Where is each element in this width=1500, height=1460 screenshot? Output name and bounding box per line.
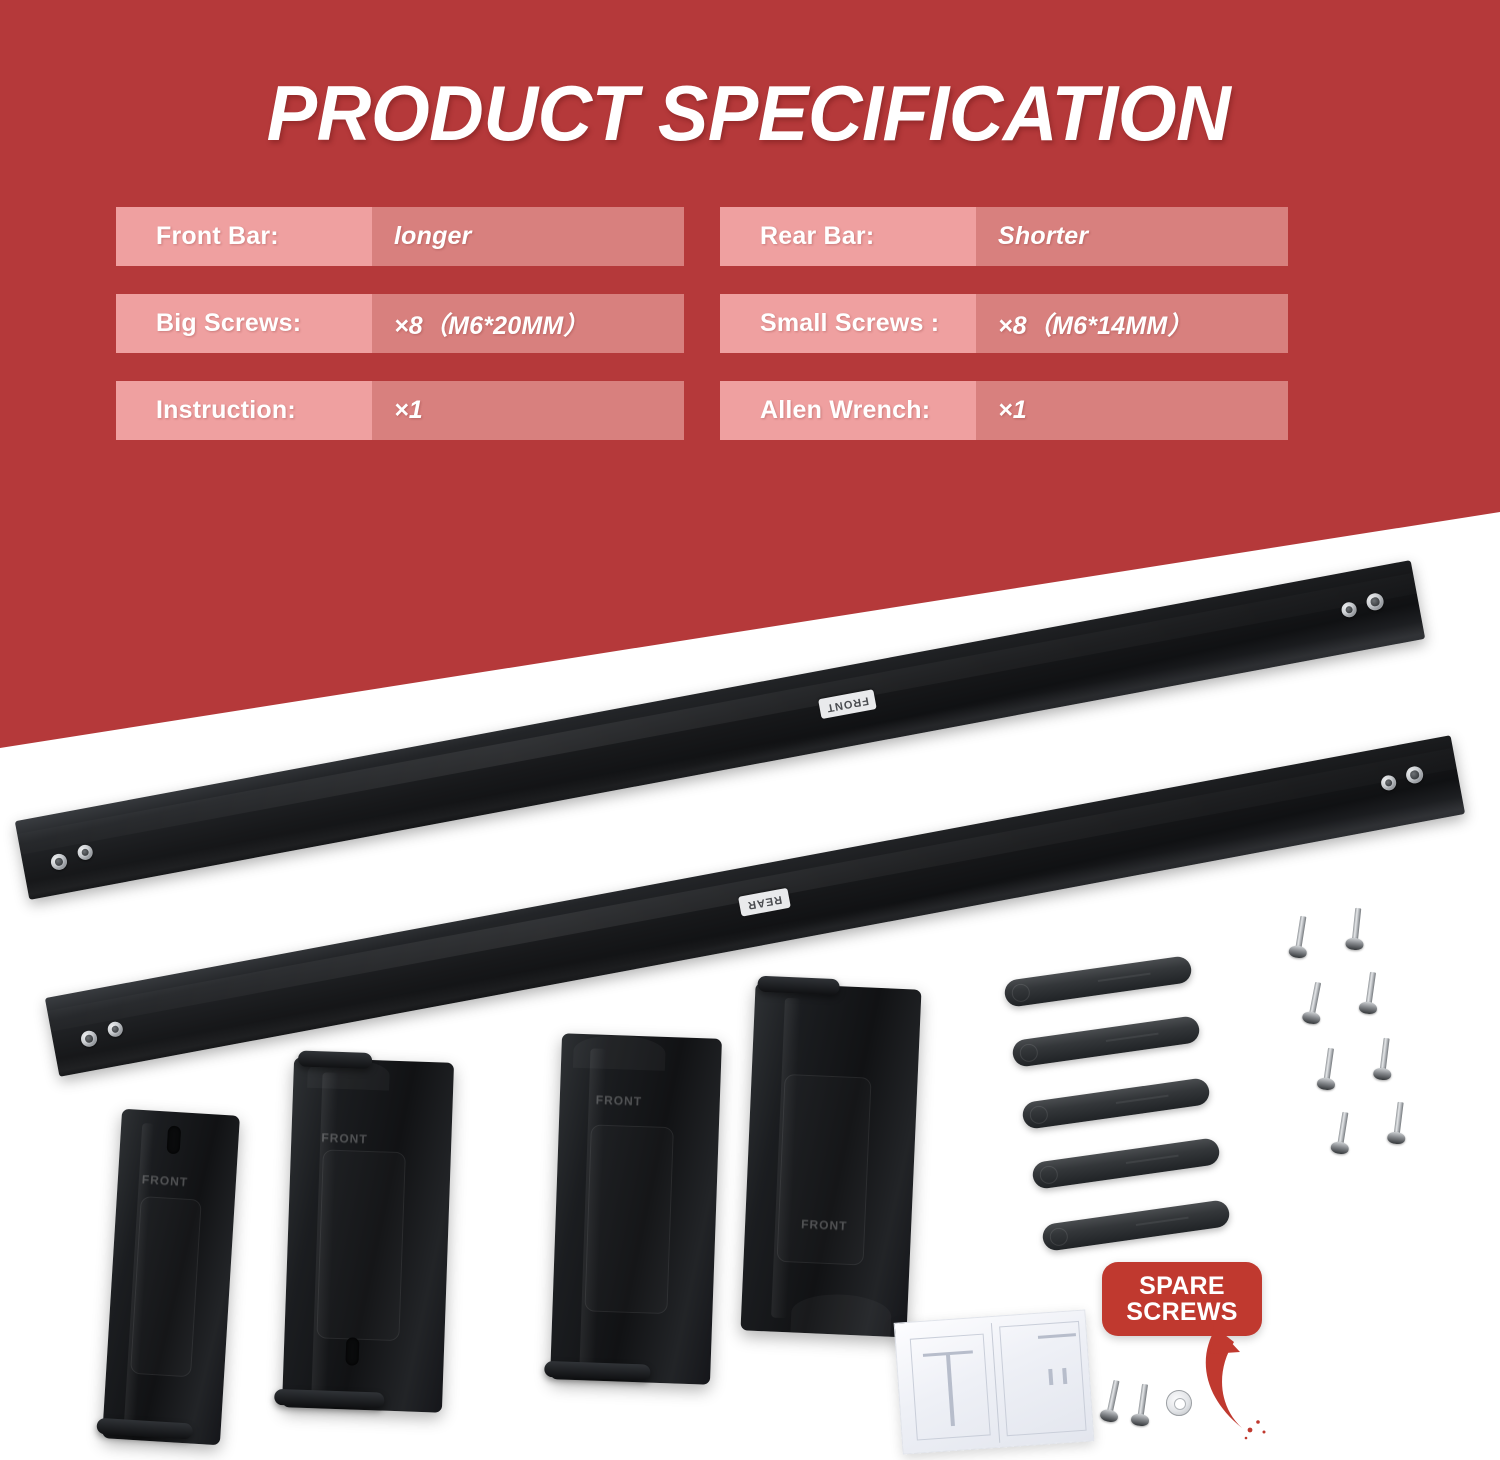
screw-shaft (1394, 1102, 1404, 1135)
product-specification-image: PRODUCT SPECIFICATION Front Bar: longer … (0, 0, 1500, 1460)
booklet-fold (991, 1323, 1000, 1443)
spec-column-gap (684, 207, 720, 266)
front-bar-bolt (50, 853, 69, 872)
screw-shaft (1295, 916, 1306, 950)
screw (1317, 1047, 1339, 1093)
rubber-pad (1021, 1077, 1211, 1130)
spec-column-gap (684, 381, 720, 440)
spec-value-small-screws: ×8（M6*14MM） (976, 294, 1288, 353)
screw-head (1288, 944, 1308, 959)
spec-value-allen-wrench: ×1 (976, 381, 1288, 440)
bracket-3-front-emboss: FRONT (596, 1093, 643, 1109)
screw (1331, 1111, 1354, 1157)
screw-shaft (1137, 1384, 1148, 1418)
spec-row-allen-wrench: Allen Wrench: ×1 (720, 381, 1288, 440)
spec-value-front-bar: longer (372, 207, 684, 266)
spare-screws-items (1096, 1376, 1246, 1446)
screw-shaft (1323, 1048, 1334, 1082)
screw-head (1345, 937, 1364, 951)
screw (1387, 1101, 1408, 1147)
bracket-foot (274, 1389, 384, 1409)
screw-head (1387, 1131, 1406, 1145)
screw-head (1358, 1001, 1377, 1015)
screw-shaft (1337, 1112, 1348, 1146)
screw-head (1099, 1408, 1119, 1423)
spec-label-front-bar: Front Bar: (116, 207, 372, 266)
screw-head (1316, 1077, 1335, 1091)
bracket-foot (757, 976, 840, 996)
rear-bar-bolt (107, 1021, 125, 1039)
rubber-pad (1031, 1137, 1221, 1190)
spec-value-rear-bar: Shorter (976, 207, 1288, 266)
spec-row-instruction: Instruction: ×1 (116, 381, 684, 440)
rubber-pad (1003, 955, 1193, 1008)
screw-head (1130, 1413, 1149, 1427)
screw (1289, 915, 1312, 961)
bracket-slot (345, 1337, 359, 1365)
spec-label-small-screws: Small Screws : (720, 294, 976, 353)
rubber-pad (1011, 1015, 1201, 1068)
screw-shaft (1352, 908, 1361, 941)
screw-head (1301, 1010, 1321, 1025)
bracket-2-front-emboss: FRONT (321, 1130, 368, 1146)
spare-washer (1166, 1390, 1192, 1416)
bracket-2: FRONT (282, 1057, 454, 1412)
bracket-4: FRONT (740, 983, 921, 1338)
spec-row-small-screws: Small Screws : ×8（M6*14MM） (720, 294, 1288, 353)
spec-row-front-bar: Front Bar: longer (116, 207, 684, 266)
spec-value-instruction: ×1 (372, 381, 684, 440)
spec-label-rear-bar: Rear Bar: (720, 207, 976, 266)
screw (1302, 981, 1326, 1027)
screw (1346, 907, 1367, 952)
spare-screw (1100, 1379, 1125, 1425)
bracket-panel (316, 1149, 406, 1341)
spec-value-big-screws: ×8（M6*20MM） (372, 294, 684, 353)
screw (1373, 1037, 1394, 1083)
bracket-panel (584, 1124, 674, 1314)
screw-shaft (1107, 1380, 1120, 1414)
page-title: PRODUCT SPECIFICATION (118, 74, 1379, 152)
bracket-1-front-emboss: FRONT (141, 1172, 188, 1189)
spec-label-allen-wrench: Allen Wrench: (720, 381, 976, 440)
bracket-foot (544, 1361, 650, 1381)
spec-row-rear-bar: Rear Bar: Shorter (720, 207, 1288, 266)
bracket-curve (573, 1034, 666, 1071)
bracket-3: FRONT (550, 1033, 722, 1384)
bracket-curve (790, 1292, 892, 1336)
instruction-manual (894, 1309, 1095, 1454)
spare-screws-line-1: SPARE (1139, 1273, 1225, 1299)
rear-bar-bolt (80, 1029, 99, 1048)
screw-head (1330, 1140, 1350, 1155)
spec-label-instruction: Instruction: (116, 381, 372, 440)
bracket-1: FRONT (102, 1109, 240, 1446)
spare-screw (1131, 1383, 1153, 1429)
screw-shaft (1309, 982, 1321, 1016)
spec-column-gap (684, 294, 720, 353)
spec-table: Front Bar: longer Rear Bar: Shorter Big … (116, 207, 1288, 440)
bracket-panel (777, 1074, 871, 1265)
front-bar-bolt (76, 844, 94, 862)
screw-shaft (1365, 972, 1376, 1006)
bracket-slot (167, 1126, 182, 1155)
screw-head (1373, 1067, 1392, 1081)
spec-row-big-screws: Big Screws: ×8（M6*20MM） (116, 294, 684, 353)
bracket-4-front-emboss: FRONT (801, 1217, 848, 1233)
spec-label-big-screws: Big Screws: (116, 294, 372, 353)
bracket-panel (130, 1196, 202, 1378)
rubber-pad (1041, 1199, 1231, 1252)
screw-shaft (1380, 1038, 1390, 1071)
bracket-foot (298, 1050, 373, 1069)
bracket-foot (96, 1418, 193, 1440)
screw (1359, 971, 1381, 1017)
